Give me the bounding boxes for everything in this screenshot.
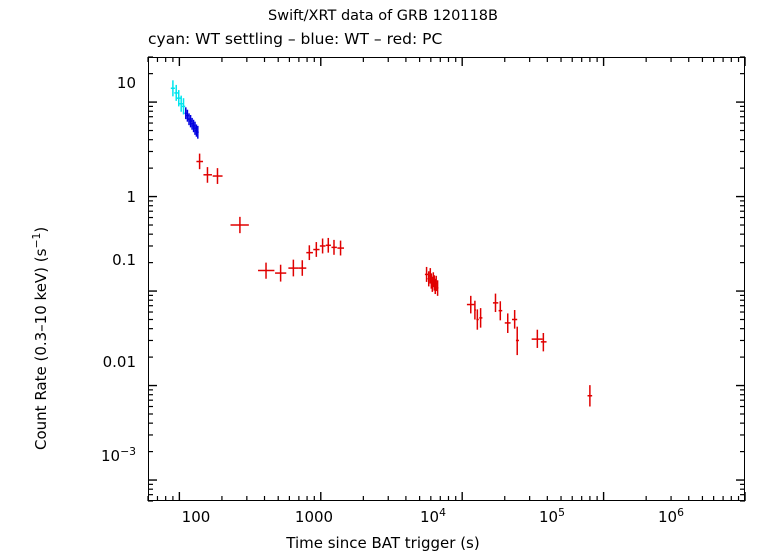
x-tick-label-100: 100 <box>166 508 226 526</box>
x-tick-label-1e4: 104 <box>403 506 463 526</box>
x-tick-label-1e5: 105 <box>522 506 582 526</box>
y-tick-label-0.1: 0.1 <box>72 251 136 269</box>
chart-title: Swift/XRT data of GRB 120118B <box>0 8 766 24</box>
y-tick-label-10: 10 <box>78 74 136 92</box>
chart-legend-subtitle: cyan: WT settling – blue: WT – red: PC <box>148 30 442 48</box>
x-axis-label: Time since BAT trigger (s) <box>0 534 766 552</box>
x-tick-label-1000: 1000 <box>284 508 344 526</box>
chart-root: Swift/XRT data of GRB 120118B cyan: WT s… <box>0 0 766 558</box>
y-axis-label: Count Rate (0.3–10 keV) (s−1) <box>30 227 50 450</box>
y-tick-label-1e-3: 10−3 <box>64 445 136 465</box>
y-tick-label-1: 1 <box>78 188 136 206</box>
x-tick-label-1e6: 106 <box>641 506 701 526</box>
plot-area <box>148 57 745 501</box>
y-tick-label-0.01: 0.01 <box>64 353 136 371</box>
